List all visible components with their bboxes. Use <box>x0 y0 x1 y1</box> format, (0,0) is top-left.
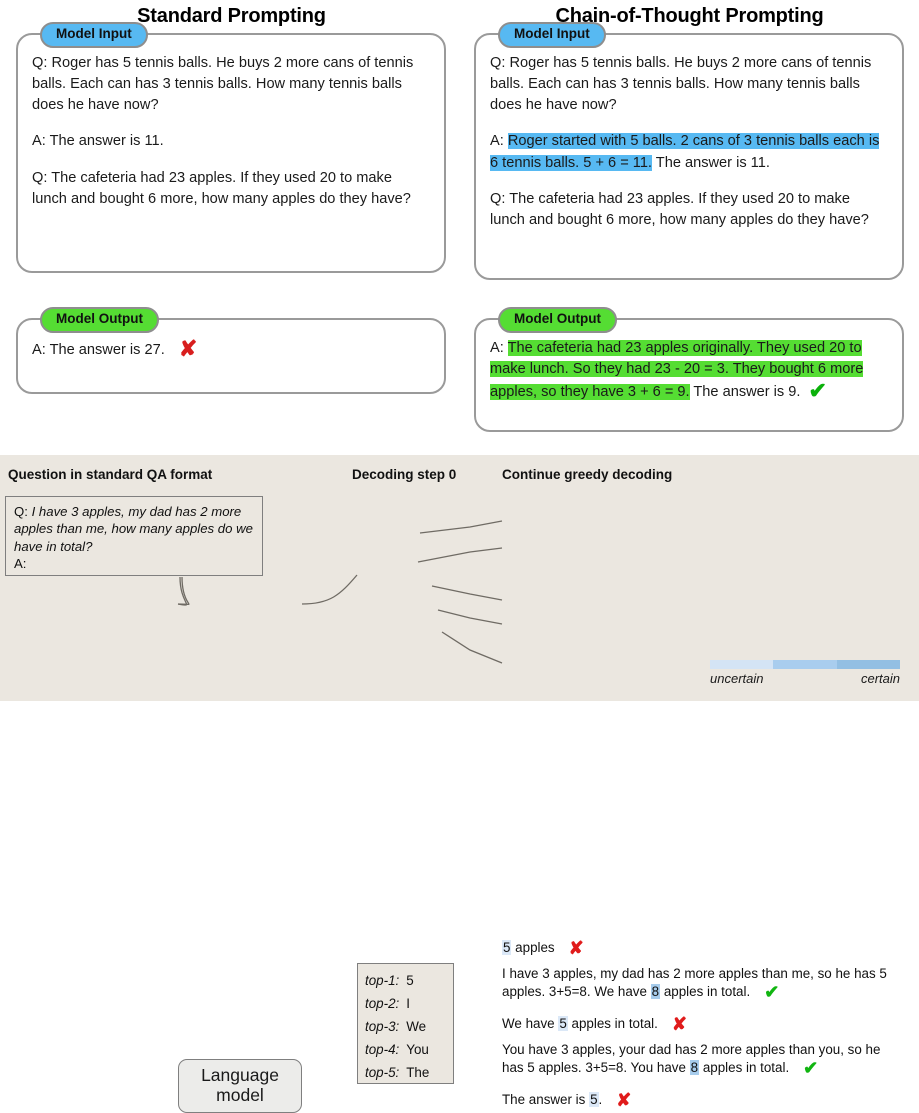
cot-input-question-1: Q: Roger has 5 tennis balls. He buys 2 m… <box>490 53 888 116</box>
legend-label-uncertain: uncertain <box>710 671 763 686</box>
continuation-item: We have 5 apples in total.✘ <box>502 1015 687 1033</box>
cot-answer-tail: The answer is 11. <box>652 155 770 171</box>
cot-model-output-body: A: The cafeteria had 23 apples originall… <box>476 320 902 415</box>
topk-row: top-2:I <box>365 992 453 1015</box>
cot-output-tail: The answer is 9. <box>690 384 801 400</box>
confidence-legend-labels: uncertain certain <box>710 671 900 686</box>
cross-mark-icon: ✘ <box>616 1091 631 1109</box>
standard-input-paragraph-2: A: The answer is 11. <box>32 131 430 152</box>
cot-answer-label: A: <box>490 133 508 149</box>
cot-output-rationale-highlight: The cafeteria had 23 apples originally. … <box>490 340 863 400</box>
continuation-post: apples in total. <box>699 1060 789 1075</box>
continuation-post: apples in total. <box>568 1016 658 1031</box>
standard-model-input-body: Q: Roger has 5 tennis balls. He buys 2 m… <box>18 35 444 222</box>
confidence-legend: uncertain certain <box>710 660 900 686</box>
model-input-badge: Model Input <box>498 22 606 48</box>
standard-model-input-card: Model Input Q: Roger has 5 tennis balls.… <box>16 33 446 273</box>
topk-row: top-4:You <box>365 1038 453 1061</box>
cot-model-output-card: Model Output A: The cafeteria had 23 app… <box>474 318 904 432</box>
check-mark-icon: ✔ <box>764 983 779 1001</box>
continuation-pre: The answer is <box>502 1092 589 1107</box>
prompting-comparison-section: Standard Prompting Model Input Q: Roger … <box>0 0 919 455</box>
standard-model-output-card: Model Output A: The answer is 27. ✘ <box>16 318 446 394</box>
cot-model-input-card: Model Input Q: Roger has 5 tennis balls.… <box>474 33 904 280</box>
continuation-post: apples <box>511 940 554 955</box>
legend-swatch-high <box>837 660 900 669</box>
continuation-item: 5 apples✘ <box>502 939 584 957</box>
topk-row: top-1:5 <box>365 969 453 992</box>
topk-token: I <box>406 992 410 1015</box>
standard-input-paragraph-3: Q: The cafeteria had 23 apples. If they … <box>32 168 430 210</box>
topk-token: 5 <box>406 969 413 992</box>
confidence-gradient-bar <box>710 660 900 669</box>
cross-mark-icon: ✘ <box>569 939 584 957</box>
legend-swatch-mid <box>773 660 836 669</box>
check-mark-icon: ✔ <box>803 1059 818 1077</box>
topk-rank-label: top-1: <box>365 973 399 988</box>
continuation-post: . <box>599 1092 603 1107</box>
continuation-token: 8 <box>651 984 660 999</box>
chain-of-thought-column: Chain-of-Thought Prompting Model Input Q… <box>462 0 917 29</box>
standard-prompting-column: Standard Prompting Model Input Q: Roger … <box>4 0 459 29</box>
topk-rank-label: top-3: <box>365 1019 399 1034</box>
heading-question-format: Question in standard QA format <box>8 467 212 482</box>
topk-rank-label: top-2: <box>365 996 399 1011</box>
continuation-token: 5 <box>589 1092 598 1107</box>
cot-output-label: A: <box>490 340 508 356</box>
topk-rank-label: top-4: <box>365 1042 399 1057</box>
continuation-item: You have 3 apples, your dad has 2 more a… <box>502 1041 902 1077</box>
topk-token: The <box>406 1061 429 1084</box>
continuation-item: I have 3 apples, my dad has 2 more apple… <box>502 965 902 1001</box>
standard-output-text: A: The answer is 27. <box>32 342 165 358</box>
topk-token: We <box>406 1015 426 1038</box>
qa-question-label: Q: <box>14 504 32 519</box>
cot-input-question-2: Q: The cafeteria had 23 apples. If they … <box>490 189 888 231</box>
topk-rank-label: top-5: <box>365 1065 399 1080</box>
qa-answer-label: A: <box>14 556 26 571</box>
standard-input-paragraph-1: Q: Roger has 5 tennis balls. He buys 2 m… <box>32 53 430 116</box>
continuation-token: 5 <box>502 940 511 955</box>
legend-label-certain: certain <box>861 671 900 686</box>
model-output-badge: Model Output <box>498 307 617 333</box>
cross-mark-icon: ✘ <box>672 1015 687 1033</box>
model-output-badge: Model Output <box>40 307 159 333</box>
top-k-candidates-box: top-1:5 top-2:I top-3:We top-4:You top-5… <box>357 963 454 1084</box>
qa-question-text: I have 3 apples, my dad has 2 more apple… <box>14 504 253 554</box>
topk-token: You <box>406 1038 429 1061</box>
heading-decoding-step: Decoding step 0 <box>352 467 456 482</box>
legend-swatch-low <box>710 660 773 669</box>
continuation-post: apples in total. <box>660 984 750 999</box>
continuation-token: 8 <box>690 1060 699 1075</box>
continuation-item: The answer is 5.✘ <box>502 1091 631 1109</box>
question-qa-format-box: Q: I have 3 apples, my dad has 2 more ap… <box>5 496 263 576</box>
continuation-token: 5 <box>558 1016 567 1031</box>
model-input-badge: Model Input <box>40 22 148 48</box>
topk-row: top-3:We <box>365 1015 453 1038</box>
language-model-label: Languagemodel <box>201 1066 279 1105</box>
language-model-box: Languagemodel <box>178 1059 302 1113</box>
cross-mark-icon: ✘ <box>179 338 197 360</box>
check-mark-icon: ✔ <box>808 380 826 402</box>
heading-continue-decoding: Continue greedy decoding <box>502 467 672 482</box>
cot-input-answer-1: A: Roger started with 5 balls. 2 cans of… <box>490 131 888 173</box>
continuation-pre: We have <box>502 1016 558 1031</box>
self-consistency-diagram-section: Question in standard QA format Decoding … <box>0 455 919 701</box>
cot-model-input-body: Q: Roger has 5 tennis balls. He buys 2 m… <box>476 35 902 243</box>
topk-row: top-5:The <box>365 1061 453 1084</box>
